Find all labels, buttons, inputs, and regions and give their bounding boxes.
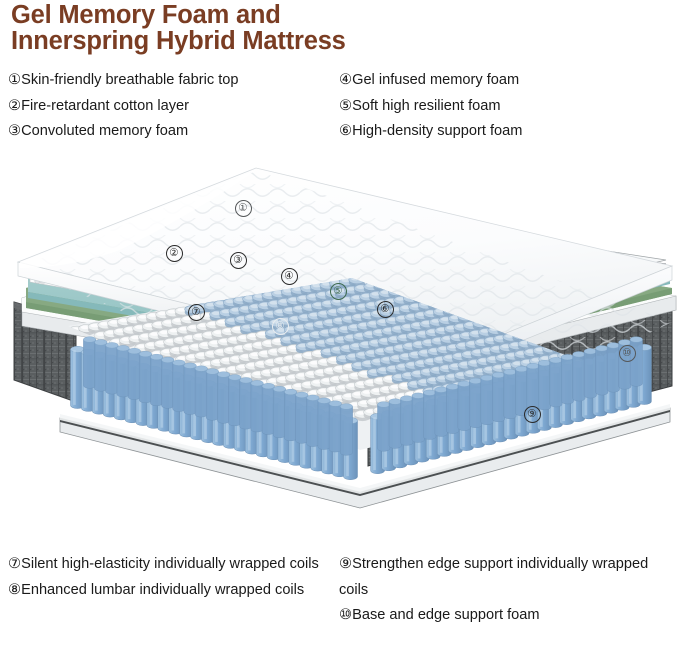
feature-number: ② — [8, 98, 21, 114]
feature-label: Enhanced lumbar individually wrapped coi… — [21, 582, 304, 598]
feature-number: ⑦ — [8, 556, 21, 572]
feature-item: ⑨Strengthen edge support individually wr… — [339, 552, 669, 603]
mattress-cutaway-diagram: ①②③④⑤⑥⑦⑧⑨⑩ — [0, 150, 679, 540]
feature-list-top-left: ①Skin-friendly breathable fabric top ②Fi… — [8, 68, 338, 145]
feature-number: ⑤ — [339, 98, 352, 114]
title-line-2: Innerspring Hybrid Mattress — [11, 28, 571, 54]
feature-label: Base and edge support foam — [352, 607, 539, 623]
feature-label: Convoluted memory foam — [21, 123, 188, 139]
feature-label: High-density support foam — [352, 123, 522, 139]
feature-number: ⑩ — [339, 607, 352, 623]
feature-item: ①Skin-friendly breathable fabric top — [8, 68, 338, 94]
feature-item: ⑥High-density support foam — [339, 119, 669, 145]
feature-item: ③Convoluted memory foam — [8, 119, 338, 145]
feature-label: Strengthen edge support individually wra… — [339, 556, 648, 598]
feature-list-top-right: ④Gel infused memory foam ⑤Soft high resi… — [339, 68, 669, 145]
feature-list-bottom-left: ⑦Silent high-elasticity individually wra… — [8, 552, 338, 603]
feature-number: ⑨ — [339, 556, 352, 572]
title-line-1: Gel Memory Foam and — [11, 2, 571, 28]
feature-number: ⑧ — [8, 582, 21, 598]
feature-label: Silent high-elasticity individually wrap… — [21, 556, 319, 572]
feature-item: ⑦Silent high-elasticity individually wra… — [8, 552, 338, 578]
feature-item: ②Fire-retardant cotton layer — [8, 94, 338, 120]
feature-number: ⑥ — [339, 123, 352, 139]
feature-item: ⑤Soft high resilient foam — [339, 94, 669, 120]
feature-item: ④Gel infused memory foam — [339, 68, 669, 94]
mattress-illustration — [0, 150, 679, 540]
feature-list-bottom-right: ⑨Strengthen edge support individually wr… — [339, 552, 669, 629]
feature-item: ⑩Base and edge support foam — [339, 603, 669, 629]
feature-number: ③ — [8, 123, 21, 139]
feature-label: Fire-retardant cotton layer — [21, 98, 189, 114]
feature-item: ⑧Enhanced lumbar individually wrapped co… — [8, 578, 338, 604]
feature-number: ④ — [339, 72, 352, 88]
feature-number: ① — [8, 72, 21, 88]
page-title: Gel Memory Foam and Innerspring Hybrid M… — [11, 2, 571, 54]
feature-label: Skin-friendly breathable fabric top — [21, 72, 238, 88]
feature-label: Soft high resilient foam — [352, 98, 500, 114]
feature-label: Gel infused memory foam — [352, 72, 519, 88]
